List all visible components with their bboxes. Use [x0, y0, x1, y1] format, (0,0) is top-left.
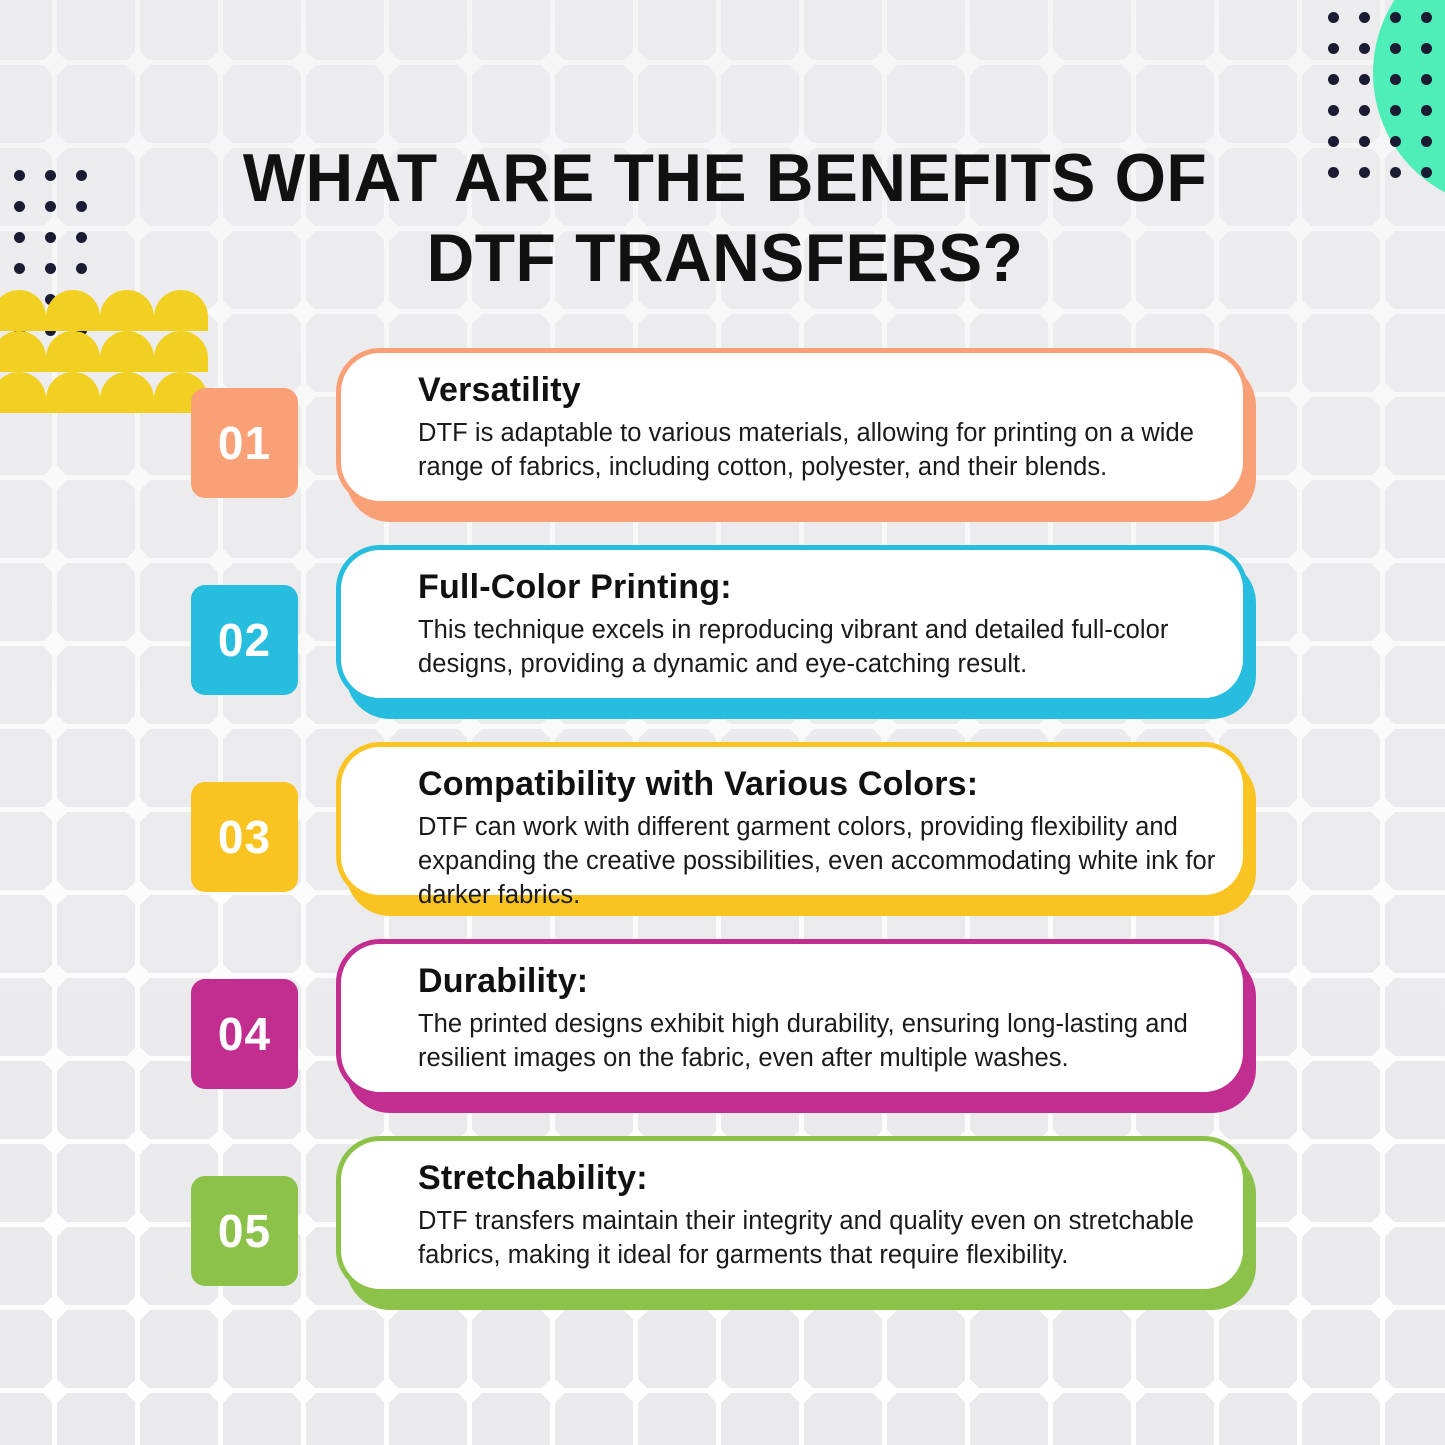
grid-node-diamond — [1368, 214, 1396, 242]
grid-node-diamond — [289, 1376, 317, 1404]
decorative-dot — [1390, 105, 1401, 116]
grid-node-diamond — [40, 48, 68, 76]
grid-node-diamond — [1036, 297, 1064, 325]
decorative-dot — [1421, 167, 1432, 178]
card-title: Versatility — [418, 371, 1228, 410]
grid-node-diamond — [787, 1376, 815, 1404]
card-content: Durability:The printed designs exhibit h… — [418, 962, 1228, 1076]
card-body-text: The printed designs exhibit high durabil… — [418, 1008, 1228, 1076]
grid-node-diamond — [787, 48, 815, 76]
grid-node-diamond — [953, 1376, 981, 1404]
decorative-dot — [45, 263, 56, 274]
benefit-card-row: Compatibility with Various Colors:DTF ca… — [0, 738, 1445, 934]
decorative-dot — [1328, 136, 1339, 147]
grid-node-diamond — [455, 48, 483, 76]
benefit-card[interactable]: Full-Color Printing:This technique excel… — [336, 545, 1248, 703]
benefit-card[interactable]: Stretchability:DTF transfers maintain th… — [336, 1136, 1248, 1294]
grid-node-diamond — [538, 297, 566, 325]
decorative-dot — [76, 232, 87, 243]
decorative-dot — [45, 201, 56, 212]
decorative-dot — [1359, 136, 1370, 147]
step-number-badge: 03 — [191, 782, 298, 892]
step-number-badge: 04 — [191, 979, 298, 1089]
card-content: Stretchability:DTF transfers maintain th… — [418, 1159, 1228, 1273]
decorative-dot — [1421, 105, 1432, 116]
grid-node-diamond — [1202, 48, 1230, 76]
grid-node-diamond — [1285, 297, 1313, 325]
decorative-dot — [76, 263, 87, 274]
decorative-dot — [1359, 105, 1370, 116]
grid-node-diamond — [1368, 297, 1396, 325]
decorative-dot — [1390, 167, 1401, 178]
decorative-dot — [1421, 12, 1432, 23]
page-title: WHAT ARE THE BENEFITS OF DTF TRANSFERS? — [206, 138, 1244, 298]
grid-node-diamond — [1036, 1376, 1064, 1404]
grid-node-diamond — [1202, 1376, 1230, 1404]
decorative-dot — [1328, 105, 1339, 116]
benefit-card-row: Durability:The printed designs exhibit h… — [0, 935, 1445, 1131]
benefit-card[interactable]: Compatibility with Various Colors:DTF ca… — [336, 742, 1248, 900]
grid-node-diamond — [1119, 1376, 1147, 1404]
grid-node-diamond — [289, 297, 317, 325]
decorative-dot — [76, 170, 87, 181]
card-title: Compatibility with Various Colors: — [418, 765, 1228, 804]
grid-node-diamond — [621, 1376, 649, 1404]
grid-node-diamond — [206, 297, 234, 325]
decorative-dot — [1390, 136, 1401, 147]
grid-node-diamond — [870, 48, 898, 76]
card-content: VersatilityDTF is adaptable to various m… — [418, 371, 1228, 485]
decorative-dot — [14, 201, 25, 212]
grid-node-diamond — [206, 1376, 234, 1404]
decorative-dot — [1390, 43, 1401, 54]
grid-node-diamond — [289, 48, 317, 76]
grid-node-diamond — [1202, 297, 1230, 325]
decorative-dot — [45, 232, 56, 243]
grid-node-diamond — [621, 297, 649, 325]
grid-node-diamond — [704, 48, 732, 76]
grid-node-diamond — [372, 1376, 400, 1404]
card-title: Stretchability: — [418, 1159, 1228, 1198]
card-body-text: DTF transfers maintain their integrity a… — [418, 1205, 1228, 1273]
grid-node-diamond — [953, 297, 981, 325]
grid-node-diamond — [455, 1376, 483, 1404]
grid-node-diamond — [1285, 48, 1313, 76]
step-number-label: 01 — [218, 416, 271, 470]
grid-node-diamond — [1119, 297, 1147, 325]
decorative-dot — [1328, 167, 1339, 178]
card-title: Full-Color Printing: — [418, 568, 1228, 607]
grid-node-diamond — [123, 48, 151, 76]
card-body-text: This technique excels in reproducing vib… — [418, 614, 1228, 682]
step-number-badge: 05 — [191, 1176, 298, 1286]
grid-node-diamond — [1368, 1376, 1396, 1404]
decorative-dot — [14, 232, 25, 243]
decorative-dot — [1359, 74, 1370, 85]
decorative-dot — [1421, 74, 1432, 85]
decorative-dot — [1390, 12, 1401, 23]
benefit-card-row: Stretchability:DTF transfers maintain th… — [0, 1132, 1445, 1328]
grid-node-diamond — [704, 1376, 732, 1404]
step-number-label: 05 — [218, 1204, 271, 1258]
grid-node-diamond — [787, 297, 815, 325]
decorative-dot — [1328, 43, 1339, 54]
benefit-card-row: Full-Color Printing:This technique excel… — [0, 541, 1445, 737]
grid-node-diamond — [455, 297, 483, 325]
card-body-text: DTF can work with different garment colo… — [418, 811, 1228, 913]
decorative-dot — [1421, 43, 1432, 54]
grid-node-diamond — [1119, 48, 1147, 76]
decorative-dot — [45, 170, 56, 181]
decorative-dot — [14, 263, 25, 274]
grid-node-diamond — [123, 1376, 151, 1404]
decorative-dot — [14, 170, 25, 181]
decorative-dot — [1328, 12, 1339, 23]
grid-node-diamond — [372, 297, 400, 325]
benefit-card[interactable]: VersatilityDTF is adaptable to various m… — [336, 348, 1248, 506]
benefit-card[interactable]: Durability:The printed designs exhibit h… — [336, 939, 1248, 1097]
decorative-dot — [1359, 43, 1370, 54]
grid-node-diamond — [1036, 48, 1064, 76]
grid-node-diamond — [1285, 131, 1313, 159]
card-content: Full-Color Printing:This technique excel… — [418, 568, 1228, 682]
grid-node-diamond — [621, 48, 649, 76]
grid-node-diamond — [704, 297, 732, 325]
grid-node-diamond — [870, 297, 898, 325]
step-number-label: 02 — [218, 613, 271, 667]
decorative-dot — [1421, 136, 1432, 147]
step-number-badge: 02 — [191, 585, 298, 695]
grid-node-diamond — [870, 1376, 898, 1404]
decorative-dot — [1359, 12, 1370, 23]
grid-node-diamond — [953, 48, 981, 76]
grid-node-diamond — [538, 48, 566, 76]
grid-node-diamond — [123, 214, 151, 242]
grid-node-diamond — [123, 131, 151, 159]
card-content: Compatibility with Various Colors:DTF ca… — [418, 765, 1228, 913]
card-title: Durability: — [418, 962, 1228, 1001]
grid-node-diamond — [206, 48, 234, 76]
decorative-dot — [1390, 74, 1401, 85]
grid-node-diamond — [1285, 214, 1313, 242]
grid-node-diamond — [372, 48, 400, 76]
step-number-label: 03 — [218, 810, 271, 864]
grid-node-diamond — [40, 131, 68, 159]
grid-node-diamond — [1285, 1376, 1313, 1404]
step-number-badge: 01 — [191, 388, 298, 498]
card-body-text: DTF is adaptable to various materials, a… — [418, 417, 1228, 485]
step-number-label: 04 — [218, 1007, 271, 1061]
grid-node-diamond — [40, 1376, 68, 1404]
decorative-dot — [76, 201, 87, 212]
decorative-dot — [1328, 74, 1339, 85]
grid-node-diamond — [538, 1376, 566, 1404]
benefit-card-row: VersatilityDTF is adaptable to various m… — [0, 344, 1445, 540]
decorative-dot — [1359, 167, 1370, 178]
infographic-canvas: WHAT ARE THE BENEFITS OF DTF TRANSFERS? … — [0, 0, 1445, 1445]
